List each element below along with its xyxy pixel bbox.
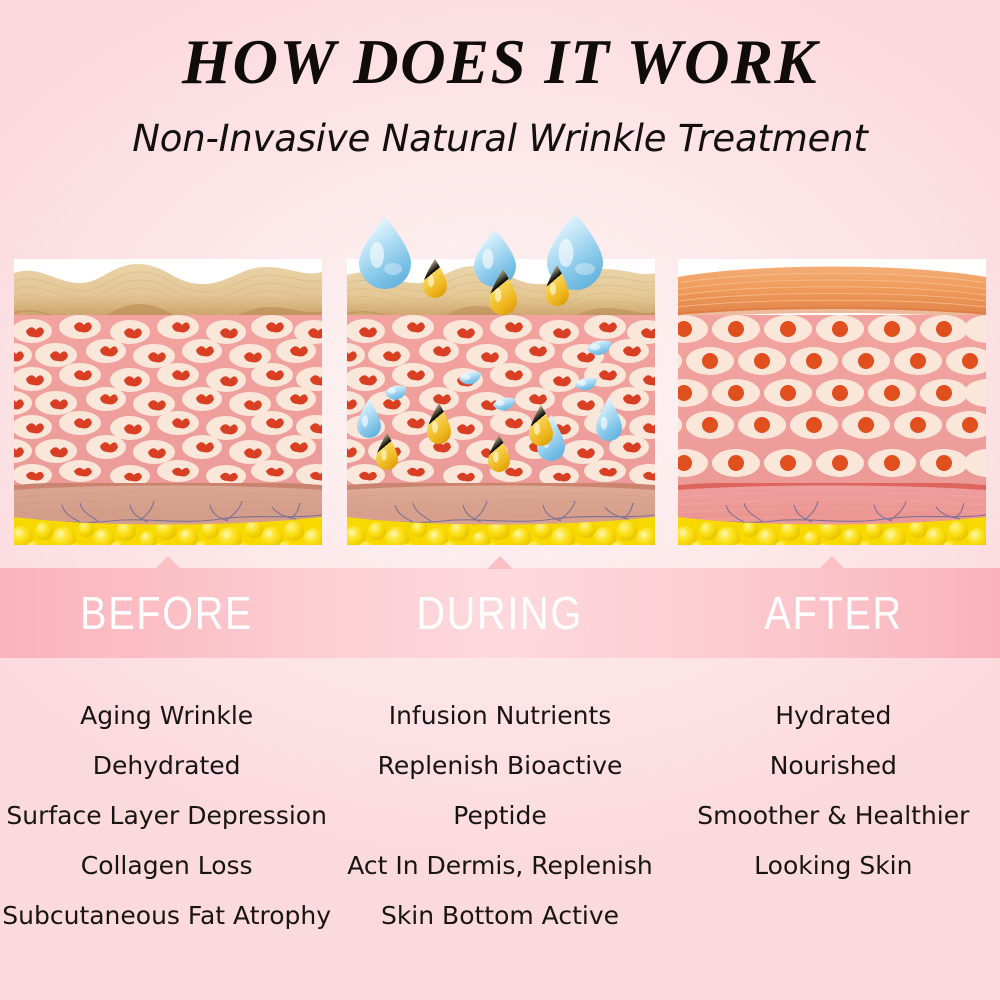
benefit-column-after: Hydrated Nourished Smoother & Healthier … xyxy=(667,690,1000,950)
page-title: HOW DOES IT WORK xyxy=(0,0,1000,95)
subcutaneous-fat-layer-before xyxy=(14,507,322,545)
skin-diagram-after xyxy=(678,259,986,545)
benefit-item: Subcutaneous Fat Atrophy xyxy=(2,890,331,940)
benefit-item: Collagen Loss xyxy=(81,840,253,890)
skin-diagram-row xyxy=(0,259,1000,545)
epidermis-layer-during xyxy=(347,259,655,321)
header: HOW DOES IT WORK Non-Invasive Natural Wr… xyxy=(0,0,1000,160)
dermis-layer-before xyxy=(14,315,322,491)
benefit-item: Replenish Bioactive xyxy=(378,740,623,790)
page-subtitle: Non-Invasive Natural Wrinkle Treatment xyxy=(0,95,1000,160)
benefit-item: Act In Dermis, Replenish xyxy=(347,840,653,890)
benefit-item: Infusion Nutrients xyxy=(389,690,612,740)
benefit-column-before: Aging Wrinkle Dehydrated Surface Layer D… xyxy=(0,690,333,950)
dermis-layer-during xyxy=(347,315,655,491)
stage-label-during: DURING xyxy=(357,568,644,658)
epidermis-layer-before xyxy=(14,259,322,321)
epidermis-layer-after xyxy=(678,259,986,321)
skin-diagram-during xyxy=(347,259,655,545)
benefit-item: Surface Layer Depression xyxy=(6,790,327,840)
benefit-column-during: Infusion Nutrients Replenish Bioactive P… xyxy=(333,690,666,950)
benefit-columns: Aging Wrinkle Dehydrated Surface Layer D… xyxy=(0,690,1000,950)
stage-label-before: BEFORE xyxy=(23,568,310,658)
benefit-item: Smoother & Healthier xyxy=(697,790,969,840)
infographic-page: HOW DOES IT WORK Non-Invasive Natural Wr… xyxy=(0,0,1000,1000)
benefit-item: Dehydrated xyxy=(93,740,241,790)
skin-diagram-before xyxy=(14,259,322,545)
benefit-item: Peptide xyxy=(453,790,546,840)
subcutaneous-fat-layer-after xyxy=(678,507,986,545)
stage-band: BEFORE DURING AFTER xyxy=(0,568,1000,658)
benefit-item: Nourished xyxy=(770,740,897,790)
benefit-item: Looking Skin xyxy=(754,840,912,890)
dermis-layer-after xyxy=(678,315,986,491)
subcutaneous-fat-layer-during xyxy=(347,507,655,545)
benefit-item: Aging Wrinkle xyxy=(80,690,253,740)
stage-label-after: AFTER xyxy=(690,568,977,658)
benefit-item: Skin Bottom Active xyxy=(381,890,619,940)
benefit-item: Hydrated xyxy=(775,690,891,740)
